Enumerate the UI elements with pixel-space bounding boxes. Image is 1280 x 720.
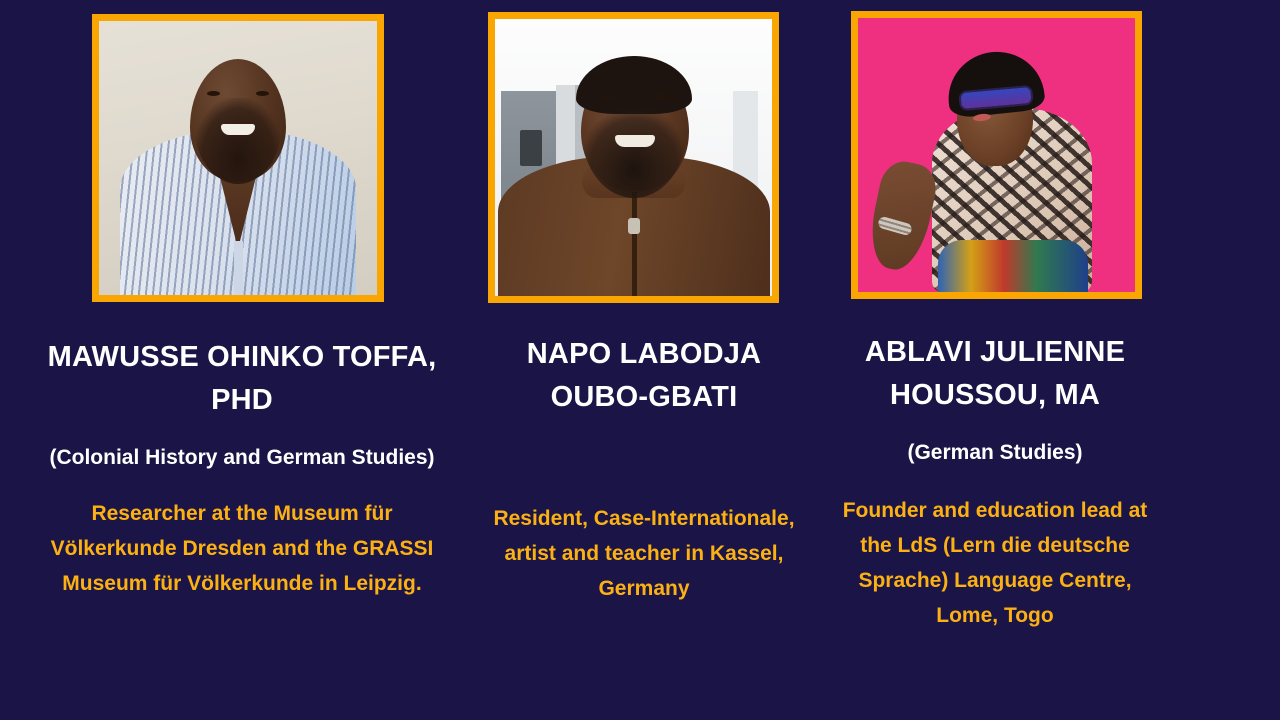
person-eye-left: [207, 91, 220, 96]
speaker-field-1: (Colonial History and German Studies): [27, 442, 457, 474]
wall-speaker-box: [520, 130, 542, 166]
speaker-photo-frame-1: [92, 14, 384, 302]
zipper-pull: [628, 218, 640, 234]
speaker-card-2: NAPO LABODJA OUBO-GBATI Resident, Case-I…: [470, 0, 820, 606]
speaker-text-1: MAWUSSE OHINKO TOFFA, PHD (Colonial Hist…: [27, 336, 457, 601]
colorful-wrap-skirt: [938, 240, 1088, 292]
speaker-photo-2: [495, 19, 772, 296]
speaker-name-1: MAWUSSE OHINKO TOFFA, PHD: [27, 336, 457, 422]
speaker-card-3: ABLAVI JULIENNE HOUSSOU, MA (German Stud…: [820, 0, 1280, 633]
person-smile: [615, 135, 655, 147]
speaker-photo-3: [858, 18, 1135, 292]
speaker-text-2: NAPO LABODJA OUBO-GBATI Resident, Case-I…: [479, 333, 809, 606]
shirt-placket: [234, 241, 243, 295]
speaker-field-3: (German Studies): [830, 437, 1160, 469]
speaker-name-2: NAPO LABODJA OUBO-GBATI: [479, 333, 809, 419]
speaker-photo-frame-2: [488, 12, 779, 303]
speaker-text-3: ABLAVI JULIENNE HOUSSOU, MA (German Stud…: [830, 331, 1160, 633]
person-eye-right: [653, 94, 668, 99]
person-eye-right: [256, 91, 269, 96]
person-eye-left: [600, 94, 615, 99]
speaker-card-1: MAWUSSE OHINKO TOFFA, PHD (Colonial Hist…: [0, 0, 470, 601]
speaker-role-3: Founder and education lead at the LdS (L…: [830, 493, 1160, 633]
speaker-photo-1: [99, 21, 377, 295]
speaker-name-3: ABLAVI JULIENNE HOUSSOU, MA: [830, 331, 1160, 417]
speaker-panel-slide: MAWUSSE OHINKO TOFFA, PHD (Colonial Hist…: [0, 0, 1280, 720]
person-smile: [221, 124, 255, 135]
speaker-role-2: Resident, Case-Internationale, artist an…: [479, 501, 809, 606]
speaker-role-1: Researcher at the Museum für Völkerkunde…: [27, 496, 457, 601]
sweater-zipper: [632, 192, 637, 296]
speaker-photo-frame-3: [851, 11, 1142, 299]
speakers-row: MAWUSSE OHINKO TOFFA, PHD (Colonial Hist…: [0, 0, 1280, 720]
